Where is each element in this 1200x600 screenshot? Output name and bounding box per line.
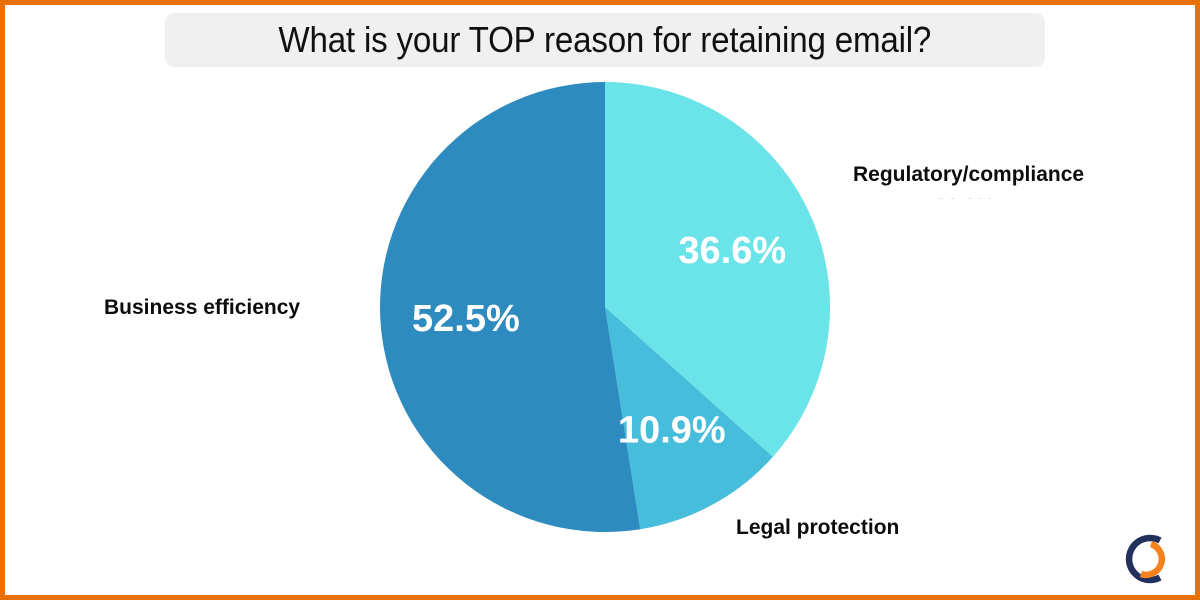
- logo-arc-orange: [1141, 544, 1162, 575]
- pie-value-legal: 10.9%: [618, 410, 726, 452]
- logo-icon: [1120, 530, 1178, 588]
- pie-label-regulatory-value-clipped: 36.6%: [935, 195, 995, 199]
- pie-value-regulatory: 36.6%: [678, 230, 786, 272]
- pie-label-regulatory-compliance: Regulatory/compliance: [853, 163, 1084, 188]
- pie-label-business-efficiency: Business efficiency: [104, 296, 300, 321]
- pie-value-business: 52.5%: [412, 298, 520, 340]
- chart-canvas: What is your TOP reason for retaining em…: [0, 0, 1200, 600]
- company-logo: [1120, 530, 1178, 588]
- pie-label-legal-protection: Legal protection: [736, 516, 899, 541]
